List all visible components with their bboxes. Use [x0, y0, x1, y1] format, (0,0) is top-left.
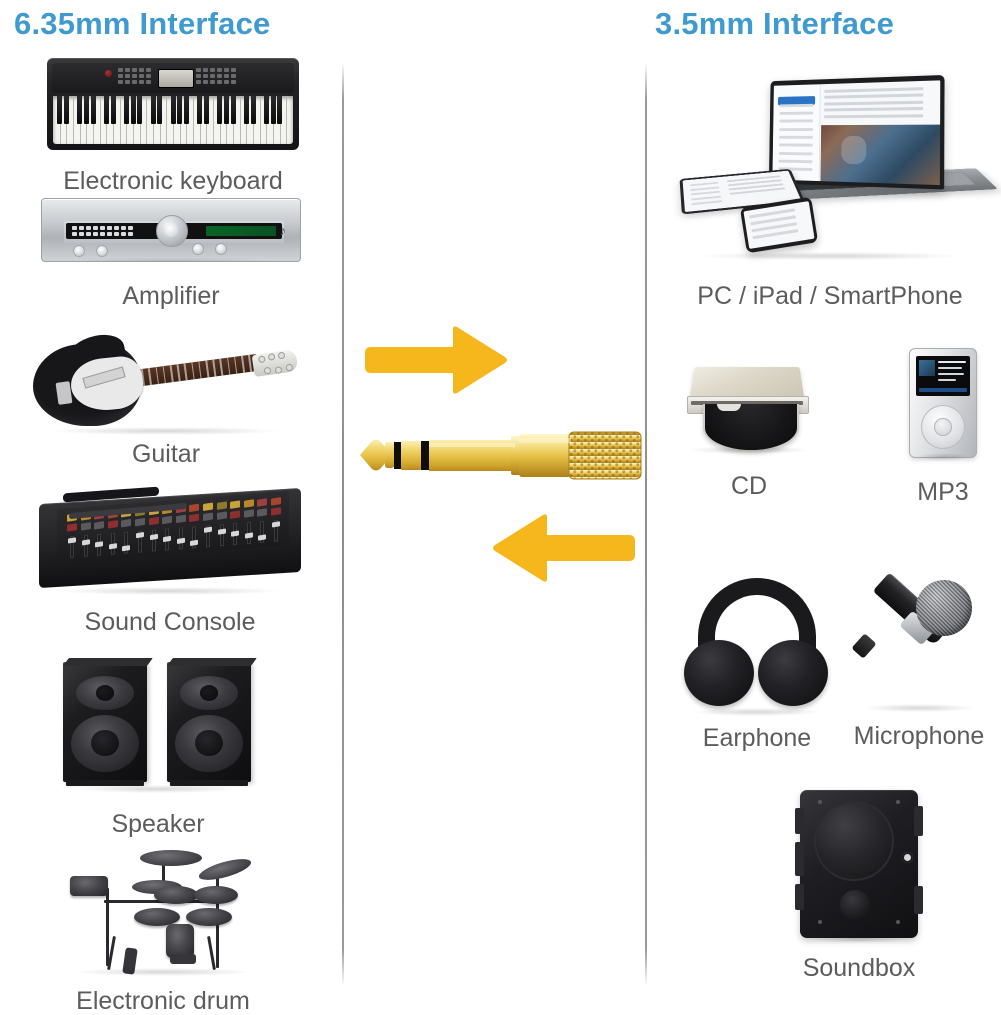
list-item-electronic-drum: Electronic drum	[38, 836, 288, 1015]
list-item-label: MP3	[888, 478, 998, 506]
list-item-earphone: Earphone	[682, 578, 832, 752]
list-item-label: Amplifier	[16, 282, 326, 310]
list-item-label: Speaker	[58, 810, 258, 838]
portable-soundbox-icon	[800, 790, 918, 938]
page-title-right-column: 3.5mm Interface	[655, 6, 894, 42]
list-item-label: Electronic drum	[38, 987, 288, 1015]
arrow-left-icon	[490, 513, 635, 583]
list-item-pc-ipad-smartphone: PC / iPad / SmartPhone	[670, 70, 990, 310]
list-item-label: Sound Console	[20, 608, 320, 636]
divider-left	[342, 62, 344, 986]
divider-right	[645, 62, 647, 986]
over-ear-headphones-icon	[682, 578, 832, 710]
laptop-tablet-phone-icon	[675, 70, 985, 270]
mixing-console-icon	[39, 482, 301, 590]
arrow-right-icon	[365, 325, 510, 395]
list-item-guitar: Guitar	[16, 330, 316, 468]
list-item-label: Electronic keyboard	[18, 167, 328, 195]
list-item-speaker: Speaker	[58, 658, 258, 838]
list-item-label: Earphone	[682, 724, 832, 752]
infographic-canvas: 6.35mm Interface 3.5mm Interface Electr	[0, 0, 1001, 1001]
list-item-label: Guitar	[16, 440, 316, 468]
list-item-cd: CD	[678, 348, 820, 500]
electronic-keyboard-icon	[47, 58, 299, 150]
cd-drive-icon	[679, 348, 819, 452]
list-item-microphone: Microphone	[843, 578, 995, 750]
list-item-sound-console: Sound Console	[20, 482, 320, 636]
page-title-left-column: 6.35mm Interface	[14, 6, 271, 42]
list-item-soundbox: Soundbox	[779, 790, 939, 982]
handheld-microphone-icon	[854, 578, 984, 708]
bookshelf-speaker-pair-icon	[63, 658, 253, 788]
list-item-label: CD	[678, 472, 820, 500]
list-item-amplifier: ♪ Amplifier	[16, 198, 326, 310]
electronic-drum-kit-icon	[58, 836, 268, 971]
list-item-label: Soundbox	[779, 954, 939, 982]
electric-guitar-icon	[31, 330, 301, 430]
list-item-mp3: MP3	[888, 348, 998, 506]
list-item-label: PC / iPad / SmartPhone	[670, 282, 990, 310]
amplifier-icon: ♪	[41, 198, 301, 262]
list-item-label: Microphone	[843, 722, 995, 750]
list-item-electronic-keyboard: Electronic keyboard	[18, 58, 328, 195]
audio-jack-adapter-icon	[356, 414, 646, 501]
mp3-player-icon	[909, 348, 977, 458]
